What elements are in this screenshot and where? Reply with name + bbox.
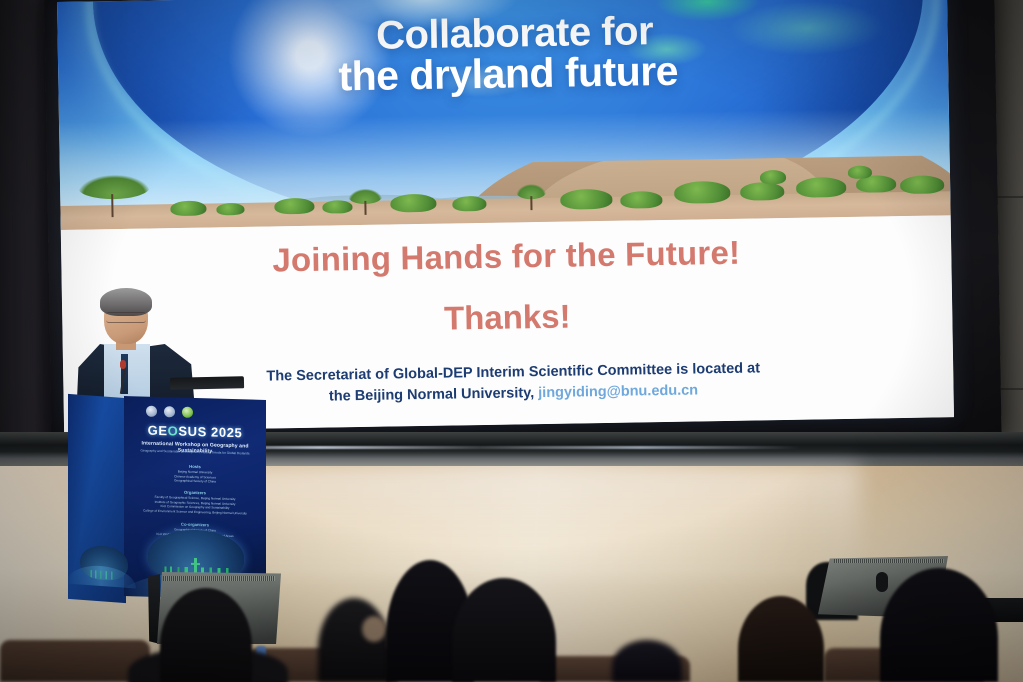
bush — [274, 198, 314, 215]
acacia-tree-icon — [516, 184, 546, 210]
speaker-grill — [163, 576, 275, 581]
bush — [216, 203, 244, 215]
bush — [740, 182, 784, 201]
bush — [760, 170, 786, 184]
event-name-o-glyph: O — [168, 423, 179, 438]
contact-email: jingyiding@bnu.edu.cn — [538, 382, 698, 401]
bush — [848, 166, 872, 179]
speaker-port-icon — [876, 572, 888, 592]
slide-hero-photo: Collaborate for the dryland future — [57, 0, 951, 230]
institution-logo-icon — [146, 405, 157, 416]
bush — [620, 191, 662, 209]
slide-heading-primary: Joining Hands for the Future! — [61, 230, 952, 283]
podium-section-organizers: Organizers Faculty of Geographical Scien… — [130, 488, 260, 516]
acacia-tree-icon — [78, 174, 151, 217]
bush — [796, 177, 846, 198]
glasses-icon — [106, 312, 146, 323]
podium-event-name: GEOSUS 2025 — [124, 422, 266, 441]
institution-logo-icon — [182, 406, 193, 417]
bush — [560, 189, 612, 210]
bush — [674, 181, 730, 204]
note-line-1: The Secretariat of Global-DEP Interim Sc… — [266, 360, 760, 384]
bush — [390, 194, 436, 213]
note-line-2: the Beijing Normal University, — [329, 385, 534, 404]
podium-front-banner: GEOSUS 2025 International Workshop on Ge… — [124, 396, 266, 600]
audience-face — [362, 616, 386, 642]
podium-section-hosts: Hosts Beijing Normal University Chinese … — [130, 462, 260, 486]
bush — [452, 196, 486, 212]
event-name-prefix: GE — [148, 423, 168, 439]
bush — [322, 200, 352, 213]
microphone-icon — [120, 360, 126, 369]
speaker-grill — [834, 559, 944, 563]
podium-logo-row — [146, 405, 234, 419]
bush — [170, 201, 206, 217]
event-name-suffix: SUS 2025 — [178, 424, 242, 441]
acacia-tree-icon — [348, 189, 382, 216]
laptop — [170, 376, 244, 390]
slide-headline: Collaborate for the dryland future — [57, 7, 948, 101]
slide-secretariat-note: The Secretariat of Global-DEP Interim Sc… — [183, 357, 844, 410]
bush — [900, 175, 944, 194]
conference-photo-scene: Collaborate for the dryland future Joini… — [0, 0, 1023, 682]
institution-logo-icon — [164, 406, 175, 417]
